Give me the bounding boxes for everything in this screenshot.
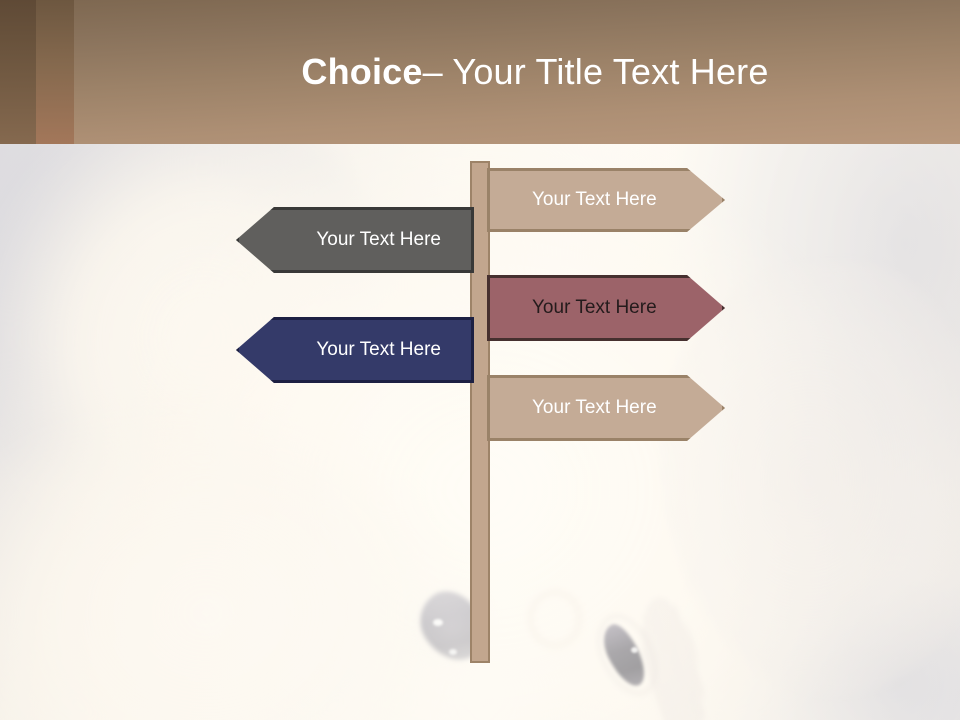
sign-tan-right-top[interactable]: Your Text Here <box>487 168 725 232</box>
page-title-emphasis: Choice <box>301 51 422 93</box>
sign-label: Your Text Here <box>316 339 441 361</box>
sign-tan-right-bottom[interactable]: Your Text Here <box>487 375 725 441</box>
sign-navy-left[interactable]: Your Text Here <box>236 317 474 383</box>
sign-label: Your Text Here <box>532 397 657 419</box>
sign-label: Your Text Here <box>532 297 657 319</box>
slide-header: Choice – Your Title Text Here <box>0 0 960 144</box>
header-left-band-mid <box>36 0 74 144</box>
header-left-band-dark <box>0 0 36 144</box>
page-title-remainder: – Your Title Text Here <box>423 51 769 93</box>
slide-canvas: Choice – Your Title Text Here Your Text … <box>0 0 960 720</box>
sign-label: Your Text Here <box>316 229 441 251</box>
sign-maroon-right[interactable]: Your Text Here <box>487 275 725 341</box>
page-title: Choice – Your Title Text Here <box>110 0 960 144</box>
sign-gray-left[interactable]: Your Text Here <box>236 207 474 273</box>
sign-label: Your Text Here <box>532 189 657 211</box>
